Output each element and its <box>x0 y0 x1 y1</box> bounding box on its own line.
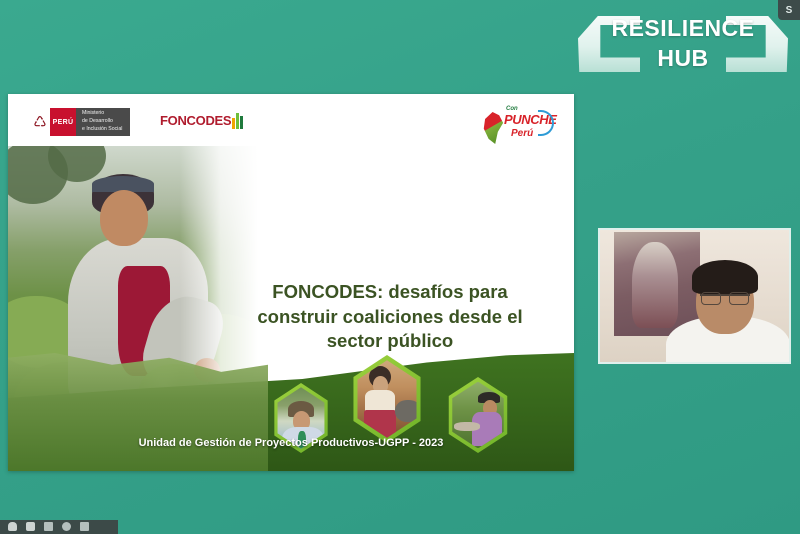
camera-icon[interactable] <box>26 522 35 531</box>
hero-person-face <box>100 190 148 246</box>
participants-icon[interactable] <box>62 522 71 531</box>
meeting-control-bar[interactable] <box>0 520 118 534</box>
brand-line-hub: HUB <box>578 45 788 72</box>
foncodes-wordmark: FONCODES <box>160 113 231 128</box>
hex-photo-center <box>348 355 426 443</box>
ministry-line-1: Ministerio <box>82 110 122 118</box>
con-punche-peru-logo: Con PUNCHE Perú <box>480 102 558 148</box>
participant-hair <box>692 260 758 294</box>
participant-glasses-left-icon <box>701 292 721 305</box>
hex-figure-pot <box>395 400 421 422</box>
shared-slide[interactable]: ♺ PERÚ Ministerio de Desarrollo e Inclus… <box>8 94 574 471</box>
hex-photo-inner <box>353 360 422 437</box>
hex-frame-icon <box>348 355 426 443</box>
microphone-icon[interactable] <box>8 522 17 531</box>
peru-coat-of-arms-icon: ♺ <box>30 108 50 136</box>
ministry-line-3: e Inclusión Social <box>82 126 122 134</box>
peru-country-label: PERÚ <box>50 108 76 136</box>
ministry-line-2: de Desarrollo <box>82 118 122 126</box>
foncodes-logo: FONCODES <box>160 112 245 129</box>
resilience-hub-logo: RESILIENCE HUB <box>578 8 788 80</box>
hex-figure-skirt <box>364 410 396 437</box>
brand-line-resilience: RESILIENCE <box>578 15 788 42</box>
foncodes-bars-icon <box>232 112 245 129</box>
government-of-peru-logo: ♺ PERÚ Ministerio de Desarrollo e Inclus… <box>30 108 130 136</box>
more-options-icon[interactable] <box>80 522 89 531</box>
video-backdrop-poster <box>614 232 700 336</box>
ministry-label: Ministerio de Desarrollo e Inclusión Soc… <box>76 108 130 136</box>
slide-foliage-strip <box>8 353 268 471</box>
corner-overlay-chip[interactable]: S <box>778 0 800 20</box>
share-screen-icon[interactable] <box>44 522 53 531</box>
participant-video-tile[interactable] <box>598 228 791 364</box>
participant-glasses-right-icon <box>729 292 749 305</box>
punche-suffix: Perú <box>511 128 533 139</box>
slide-title: FONCODES: desafíos para construir coalic… <box>232 280 548 354</box>
video-call-screen: RESILIENCE HUB S ♺ PERÚ Ministerio de De… <box>0 0 800 534</box>
poster-figure <box>632 242 678 328</box>
peru-map-icon <box>482 112 504 144</box>
hex-figure-tool <box>454 422 480 431</box>
slide-footer-credit: Unidad de Gestión de Proyectos Productiv… <box>8 437 574 449</box>
slide-logo-header: ♺ PERÚ Ministerio de Desarrollo e Inclus… <box>8 94 574 152</box>
